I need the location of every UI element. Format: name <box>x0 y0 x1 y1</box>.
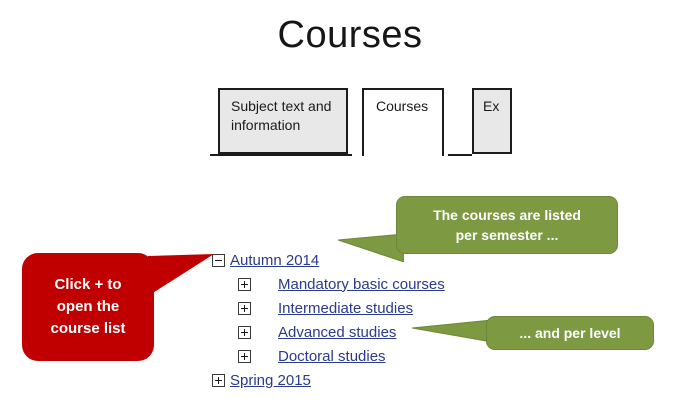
course-tree: Autumn 2014 Mandatory basic courses Inte… <box>212 248 445 392</box>
red-callout-click-plus: Click + to open the course list <box>22 253 154 361</box>
tree-label-autumn-2014[interactable]: Autumn 2014 <box>230 252 319 269</box>
tree-row-advanced-studies[interactable]: Advanced studies <box>212 320 445 344</box>
red-callout-line-2: open the <box>50 296 125 318</box>
red-callout-tail <box>148 252 214 296</box>
green-callout-top-tail <box>338 234 404 262</box>
tree-label-spring-2015[interactable]: Spring 2015 <box>230 372 311 389</box>
red-callout-line-3: course list <box>50 318 125 340</box>
page-title: Courses <box>0 14 700 57</box>
tab-subject-text-and-information[interactable]: Subject text and information <box>218 88 348 154</box>
tree-label-mandatory-basic-courses[interactable]: Mandatory basic courses <box>278 276 445 293</box>
green-callout-bottom-line-1: ... and per level <box>519 323 620 343</box>
tree-row-spring-2015[interactable]: Spring 2015 <box>212 368 445 392</box>
tree-row-doctoral-studies[interactable]: Doctoral studies <box>212 344 445 368</box>
red-callout-line-1: Click + to <box>50 274 125 296</box>
tab-baseline-left <box>210 154 352 156</box>
green-callout-bottom-tail <box>412 320 492 342</box>
plus-expander-icon[interactable] <box>238 278 251 291</box>
tab-baseline-right <box>448 154 472 156</box>
green-callout-per-semester: The courses are listed per semester ... <box>396 196 618 254</box>
green-callout-top-line-2: per semester ... <box>433 225 581 245</box>
plus-expander-icon[interactable] <box>238 302 251 315</box>
tab-exam-clipped[interactable]: Ex <box>472 88 512 154</box>
green-callout-per-level: ... and per level <box>486 316 654 350</box>
plus-expander-icon[interactable] <box>238 326 251 339</box>
plus-expander-icon[interactable] <box>238 350 251 363</box>
tree-label-doctoral-studies[interactable]: Doctoral studies <box>278 348 386 365</box>
green-callout-top-line-1: The courses are listed <box>433 205 581 225</box>
tab-strip: Subject text and information Courses Ex <box>210 86 500 158</box>
plus-expander-icon[interactable] <box>212 374 225 387</box>
tree-row-intermediate-studies[interactable]: Intermediate studies <box>212 296 445 320</box>
tree-label-advanced-studies[interactable]: Advanced studies <box>278 324 396 341</box>
tree-row-mandatory-basic-courses[interactable]: Mandatory basic courses <box>212 272 445 296</box>
tree-label-intermediate-studies[interactable]: Intermediate studies <box>278 300 413 317</box>
tab-courses[interactable]: Courses <box>362 88 444 156</box>
